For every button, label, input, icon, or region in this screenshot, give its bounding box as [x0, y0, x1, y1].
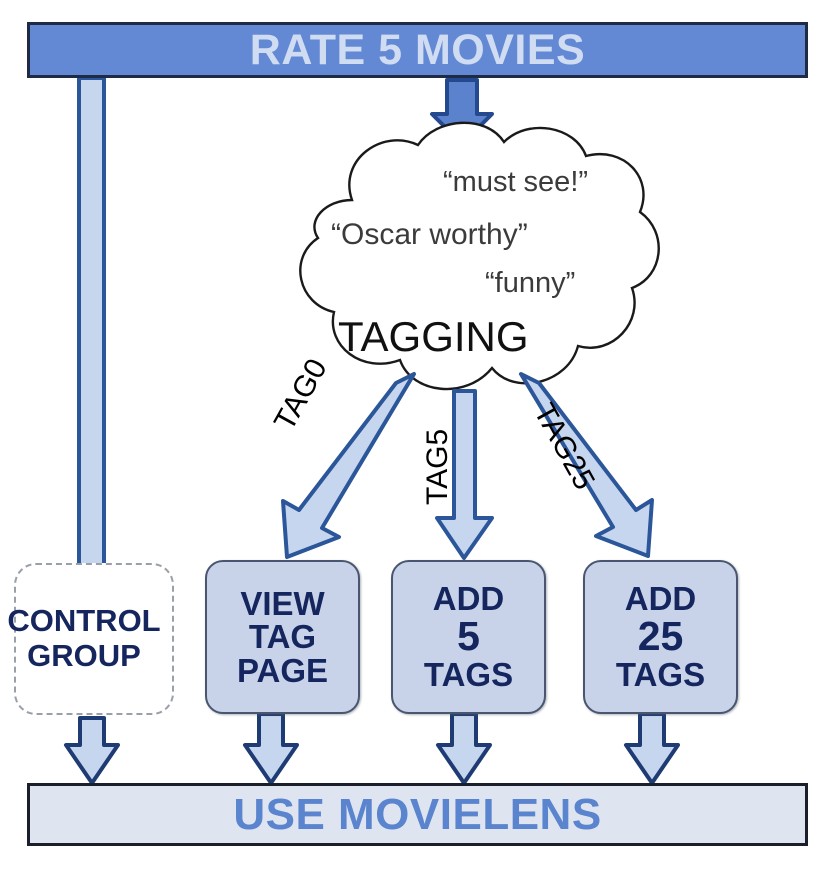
add-5-tags-line-1: ADD — [433, 582, 505, 616]
cloud-title-tagging: TAGGING — [338, 313, 529, 361]
cloud-tag-oscar-worthy: “Oscar worthy” — [331, 218, 528, 252]
arrow-control-to-movielens — [66, 718, 118, 783]
diagram-canvas: RATE 5 MOVIES “must see!” “Oscar worthy”… — [0, 0, 835, 870]
view-tag-page-line-1: VIEW — [240, 587, 324, 621]
view-tag-page-line-2: TAG — [249, 620, 316, 654]
condition-box-add-5-tags: ADD 5 TAGS — [391, 560, 546, 714]
add-5-tags-count: 5 — [457, 616, 480, 658]
arrow-add5-to-movielens — [438, 714, 490, 783]
rate-5-movies-banner: RATE 5 MOVIES — [27, 22, 808, 78]
condition-box-view-tag-page: VIEW TAG PAGE — [205, 560, 360, 714]
condition-box-add-25-tags: ADD 25 TAGS — [583, 560, 738, 714]
arrow-label-tag5: TAG5 — [421, 429, 455, 505]
diagram-vector-layer — [0, 0, 835, 870]
arrow-down-icon — [626, 714, 678, 783]
connector-control-group — [79, 78, 104, 565]
arrow-add25-to-movielens — [626, 714, 678, 783]
use-movielens-label: USE MOVIELENS — [233, 790, 601, 840]
cloud-tag-funny: “funny” — [485, 267, 575, 300]
view-tag-page-line-3: PAGE — [237, 654, 328, 688]
rate-5-movies-label: RATE 5 MOVIES — [250, 26, 585, 75]
arrow-down-icon — [245, 714, 297, 783]
control-group-shaft — [79, 78, 104, 565]
arrow-down-icon — [438, 714, 490, 783]
add-25-tags-line-1: ADD — [625, 582, 697, 616]
cloud-tag-must-see: “must see!” — [443, 166, 588, 199]
add-25-tags-count: 25 — [638, 616, 684, 658]
add-5-tags-line-3: TAGS — [424, 658, 513, 692]
use-movielens-banner: USE MOVIELENS — [27, 783, 808, 846]
control-group-box — [14, 563, 174, 715]
arrow-down-icon — [66, 718, 118, 783]
add-25-tags-line-3: TAGS — [616, 658, 705, 692]
arrow-viewtag-to-movielens — [245, 714, 297, 783]
